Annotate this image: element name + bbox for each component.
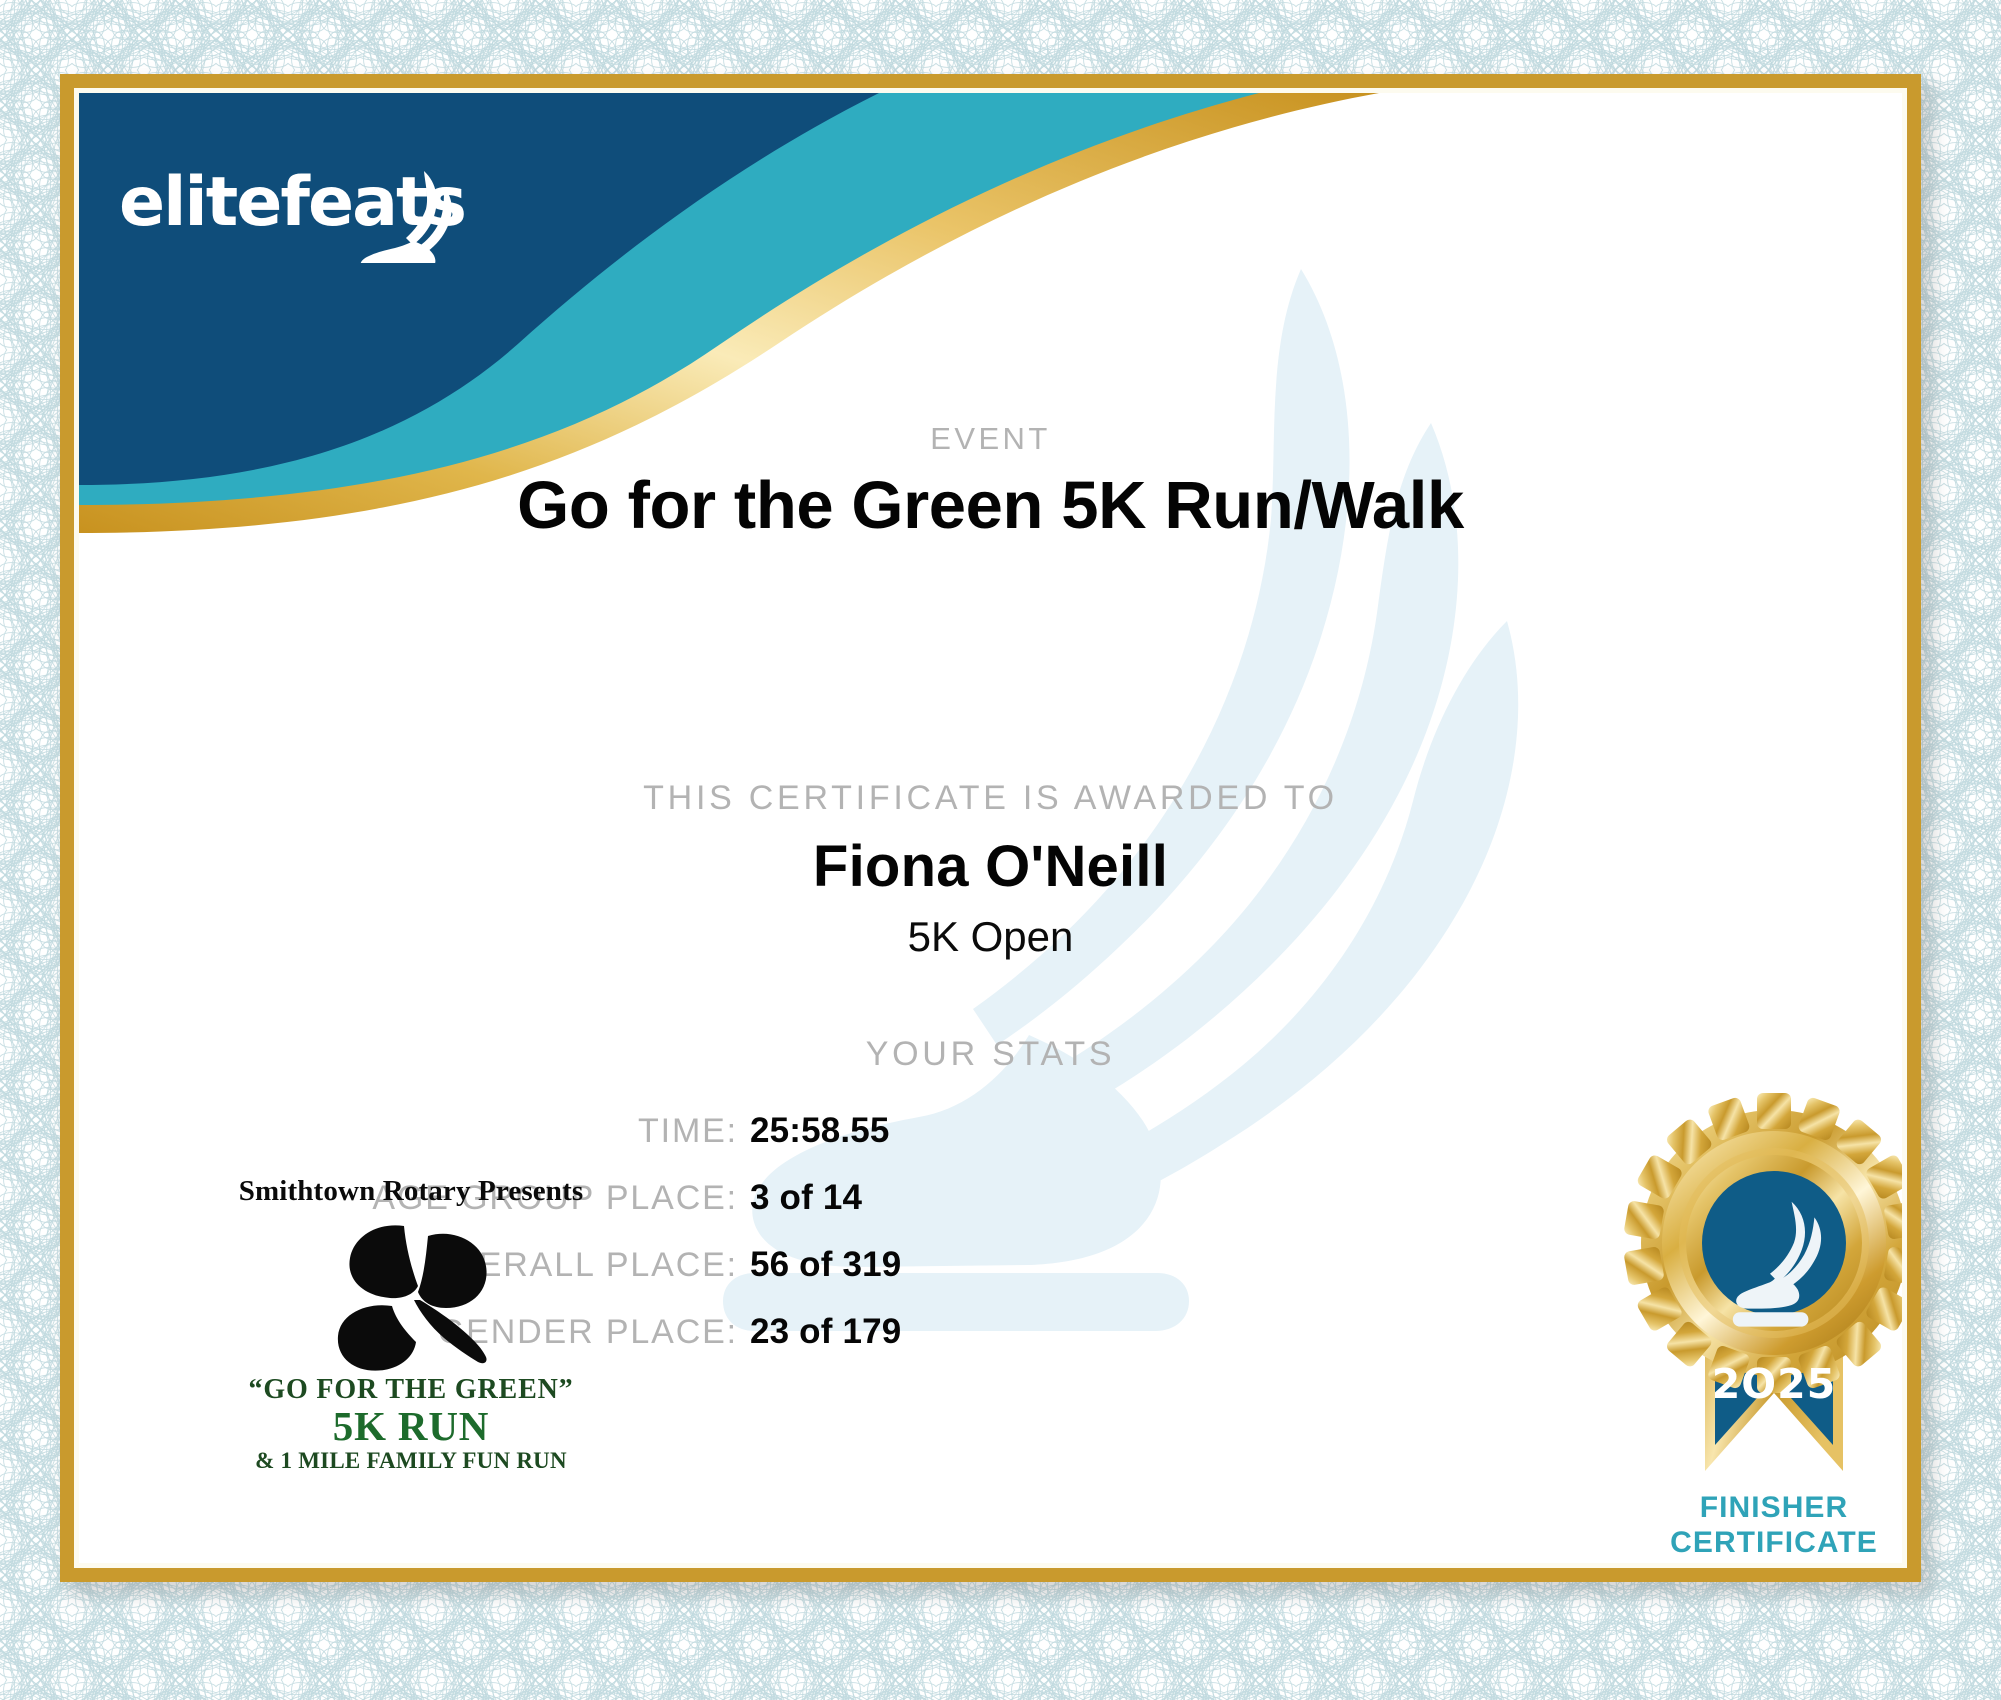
race-logo-presents-text: Smithtown Rotary Presents: [231, 1175, 591, 1208]
shamrock-icon: [296, 1214, 526, 1374]
shamrock-holder: [231, 1214, 591, 1374]
stat-value-gender-place: 23 of 179: [738, 1312, 1150, 1352]
badge-caption-line-2: CERTIFICATE: [1589, 1526, 1902, 1561]
certificate-content: EVENT Go for the Green 5K Run/Walk THIS …: [79, 93, 1902, 1563]
stat-value-time: 25:58.55: [738, 1111, 1150, 1151]
badge-caption: FINISHER CERTIFICATE: [1589, 1491, 1902, 1560]
race-logo-line-2: 5K RUN: [231, 1406, 591, 1448]
recipient-name: Fiona O'Neill: [79, 833, 1902, 900]
race-logo-line-1: “GO FOR THE GREEN”: [231, 1374, 591, 1406]
your-stats-label: YOUR STATS: [79, 1035, 1902, 1074]
stat-label-time: TIME:: [178, 1112, 738, 1151]
finisher-badge: 2O25 FINISHER CERTIFICATE: [1589, 1093, 1902, 1563]
certificate-card: elitefeats EVENT Go for the Green 5K Run…: [79, 93, 1902, 1563]
stat-row-time: TIME: 25:58.55: [79, 1111, 1249, 1169]
awarded-to-label: THIS CERTIFICATE IS AWARDED TO: [79, 779, 1902, 818]
event-title: Go for the Green 5K Run/Walk: [79, 467, 1902, 544]
event-label: EVENT: [79, 421, 1902, 457]
badge-caption-line-1: FINISHER: [1589, 1491, 1902, 1526]
race-logo-line-3: & 1 MILE FAMILY FUN RUN: [231, 1448, 591, 1474]
badge-rosette-icon: 2O25: [1589, 1093, 1902, 1493]
race-event-logo: Smithtown Rotary Presents “GO FOR THE GR…: [231, 1175, 591, 1495]
certificate-page: elitefeats EVENT Go for the Green 5K Run…: [0, 0, 2001, 1700]
badge-year: 2O25: [1712, 1360, 1836, 1408]
stat-value-age-group-place: 3 of 14: [738, 1178, 1150, 1218]
recipient-division: 5K Open: [79, 913, 1902, 961]
stat-value-overall-place: 56 of 319: [738, 1245, 1150, 1285]
